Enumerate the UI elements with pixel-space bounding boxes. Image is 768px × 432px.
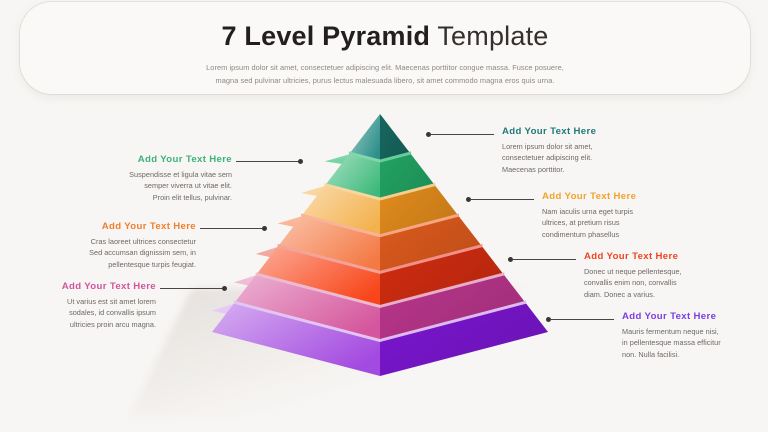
connector-line-purple-right: [550, 319, 614, 320]
connector-line-red-right: [512, 259, 576, 260]
page-subtitle: Lorem ipsum dolor sit amet, consectetuer…: [20, 62, 750, 87]
callout-body-line: condimentum phasellus: [542, 229, 722, 240]
header-card: 7 Level Pyramid Template Lorem ipsum dol…: [20, 2, 750, 94]
connector-line-magenta-left: [160, 288, 224, 289]
connector-line-green-left: [236, 161, 300, 162]
callout-body-line: ultrices, at pretium risus: [542, 217, 722, 228]
callout-heading: Add Your Text Here: [584, 251, 764, 262]
callout-amber-right[interactable]: Add Your Text Here Nam iaculis urna eget…: [542, 191, 722, 240]
callout-body: Cras laoreet ultrices consectetur Sed ac…: [24, 236, 196, 270]
callout-body-line: convallis enim non, convallis: [584, 277, 764, 288]
subtitle-line-2: magna sed pulvinar ultricies, purus lect…: [20, 75, 750, 88]
callout-body-line: semper viverra ut vitae elit.: [60, 180, 232, 191]
callout-body-line: Mauris fermentum neque nisi,: [622, 326, 768, 337]
callout-heading: Add Your Text Here: [24, 221, 196, 232]
callout-body-line: Donec ut neque pellentesque,: [584, 266, 764, 277]
callout-heading: Add Your Text Here: [542, 191, 722, 202]
page-title-bold: 7 Level Pyramid: [222, 21, 431, 51]
callout-body: Lorem ipsum dolor sit amet, consectetuer…: [502, 141, 682, 175]
callout-body-line: Proin elit tellus, pulvinar.: [60, 192, 232, 203]
connector-line-amber-right: [470, 199, 534, 200]
callout-body: Donec ut neque pellentesque, convallis e…: [584, 266, 764, 300]
connector-line-teal-right: [430, 134, 494, 135]
callout-purple-right[interactable]: Add Your Text Here Mauris fermentum nequ…: [622, 311, 768, 360]
callout-heading: Add Your Text Here: [502, 126, 682, 137]
callout-body: Suspendisse et ligula vitae sem semper v…: [60, 169, 232, 203]
callout-teal-right[interactable]: Add Your Text Here Lorem ipsum dolor sit…: [502, 126, 682, 175]
callout-body-line: Suspendisse et ligula vitae sem: [60, 169, 232, 180]
callout-body-line: consectetuer adipiscing elit.: [502, 152, 682, 163]
subtitle-line-1: Lorem ipsum dolor sit amet, consectetuer…: [20, 62, 750, 75]
callout-heading: Add Your Text Here: [0, 281, 156, 292]
page-title: 7 Level Pyramid Template: [20, 20, 750, 52]
callout-magenta-left[interactable]: Add Your Text Here Ut varius est sit ame…: [0, 281, 156, 330]
callout-body-line: Ut varius est sit amet lorem: [0, 296, 156, 307]
callout-orange-left[interactable]: Add Your Text Here Cras laoreet ultrices…: [24, 221, 196, 270]
page-title-light: Template: [430, 21, 548, 51]
slide-canvas: 7 Level Pyramid Template Lorem ipsum dol…: [0, 0, 768, 432]
callout-body-line: pellentesque turpis feugiat.: [24, 259, 196, 270]
callout-body: Nam iaculis urna eget turpis ultrices, a…: [542, 206, 722, 240]
callout-body-line: ultricies proin arcu magna.: [0, 319, 156, 330]
callout-green-left[interactable]: Add Your Text Here Suspendisse et ligula…: [60, 154, 232, 203]
callout-body-line: Sed accumsan dignissim sem, in: [24, 247, 196, 258]
callout-body-line: in pellentesque massa efficitur: [622, 337, 768, 348]
connector-dot-magenta-left: [222, 286, 227, 291]
callout-body-line: diam. Donec a varius.: [584, 289, 764, 300]
connector-dot-green-left: [298, 159, 303, 164]
callout-heading: Add Your Text Here: [60, 154, 232, 165]
callout-red-right[interactable]: Add Your Text Here Donec ut neque pellen…: [584, 251, 764, 300]
connector-line-orange-left: [200, 228, 264, 229]
connector-dot-orange-left: [262, 226, 267, 231]
callout-body-line: Maecenas porttitor.: [502, 164, 682, 175]
callout-heading: Add Your Text Here: [622, 311, 768, 322]
callout-body: Mauris fermentum neque nisi, in pellente…: [622, 326, 768, 360]
callout-body: Ut varius est sit amet lorem sodales, id…: [0, 296, 156, 330]
callout-body-line: non. Nulla facilisi.: [622, 349, 768, 360]
callout-body-line: Nam iaculis urna eget turpis: [542, 206, 722, 217]
callout-body-line: Lorem ipsum dolor sit amet,: [502, 141, 682, 152]
callout-body-line: Cras laoreet ultrices consectetur: [24, 236, 196, 247]
callout-body-line: sodales, id convallis ipsum: [0, 307, 156, 318]
